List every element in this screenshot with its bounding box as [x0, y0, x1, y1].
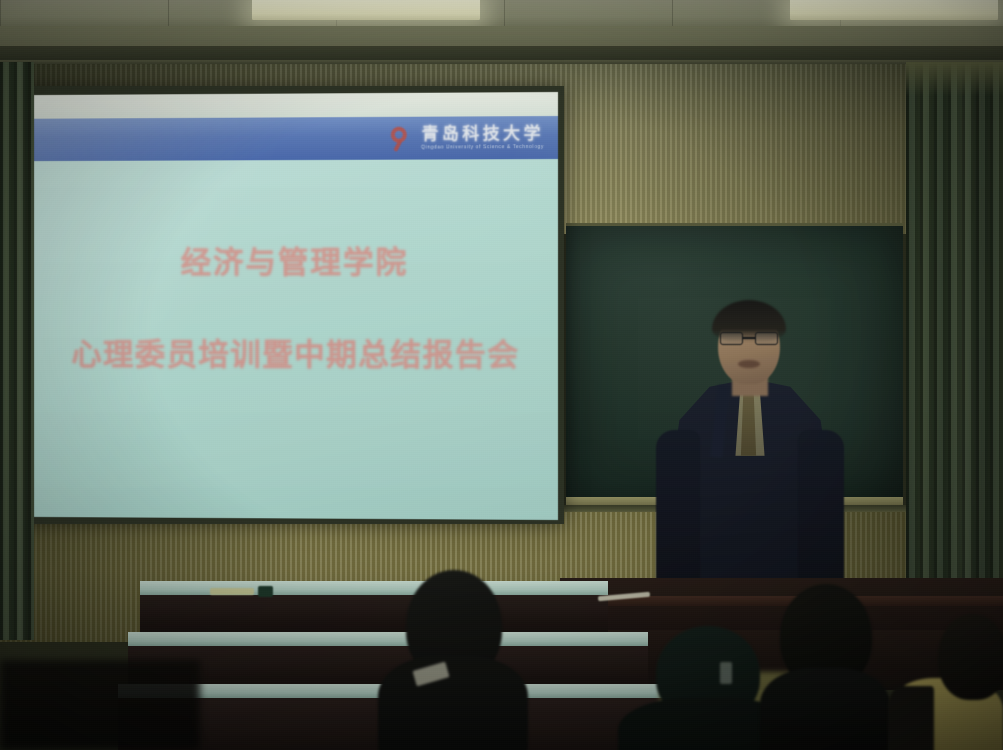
curtain-left	[0, 62, 34, 640]
audience-hair-clip	[720, 662, 732, 684]
curtain-right	[906, 62, 1003, 640]
curtain-pleats	[906, 62, 1003, 640]
lecture-hall-photo: 青岛科技大学 Qingdao University of Science & T…	[0, 0, 1003, 750]
audience-head	[938, 614, 1003, 700]
slide-body: 经济与管理学院 心理委员培训暨中期总结报告会	[34, 159, 558, 520]
foreground-shadow	[0, 660, 200, 750]
audience-member	[378, 570, 528, 750]
ceiling-band	[0, 26, 1003, 48]
projection-screen: 青岛科技大学 Qingdao University of Science & T…	[34, 92, 558, 520]
presenter-arm-right	[798, 430, 844, 600]
glasses-lens-right	[755, 332, 778, 345]
presenter	[640, 300, 860, 620]
audience-body	[760, 668, 890, 750]
ceiling-light-panel	[252, 0, 480, 20]
glasses-bridge	[743, 337, 755, 339]
glasses-lens-left	[720, 332, 743, 345]
audience-body	[378, 656, 528, 750]
university-logo-text: 青岛科技大学 Qingdao University of Science & T…	[421, 125, 544, 151]
curtain-top-fold	[906, 62, 1003, 96]
slide-top-margin	[34, 92, 558, 119]
glasses-icon	[720, 332, 778, 345]
presenter-mouth	[738, 360, 760, 368]
university-name-cn: 青岛科技大学	[422, 125, 544, 143]
presenter-arm-left	[656, 430, 700, 600]
audience-shoulder	[888, 686, 934, 750]
audience-member	[888, 620, 1003, 750]
university-logo-mark	[386, 125, 412, 151]
ceiling-light-panel	[790, 0, 998, 20]
audience-member	[760, 584, 890, 750]
desk-object	[258, 586, 273, 597]
university-name-en: Qingdao University of Science & Technolo…	[421, 145, 544, 151]
slide-title-line-1: 经济与管理学院	[34, 237, 558, 282]
slide-header-band: 青岛科技大学 Qingdao University of Science & T…	[34, 116, 558, 161]
slide-title-line-2: 心理委员培训暨中期总结报告会	[34, 330, 558, 375]
curtain-pleats	[0, 62, 34, 640]
desk-paper	[210, 588, 254, 595]
